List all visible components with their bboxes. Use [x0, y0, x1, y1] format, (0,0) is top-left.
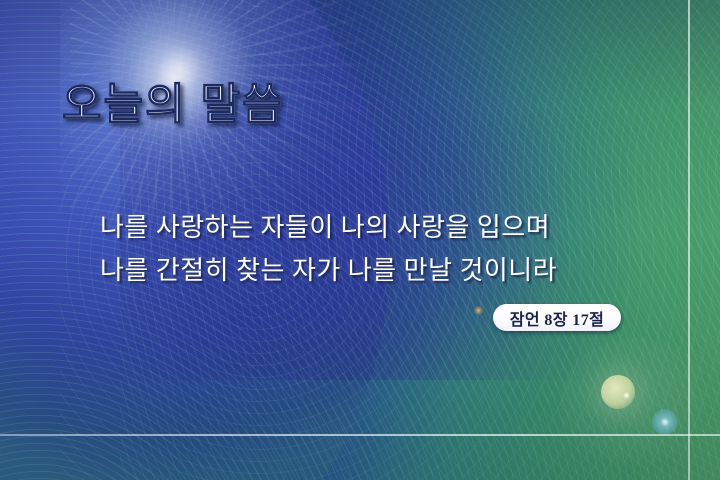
presentation-slide: 오늘의 말씀 나를 사랑하는 자들이 나의 사랑을 입으며 나를 간절히 찾는 … [0, 0, 720, 480]
slide-title: 오늘의 말씀 [62, 70, 284, 132]
slide-content: 오늘의 말씀 나를 사랑하는 자들이 나의 사랑을 입으며 나를 간절히 찾는 … [0, 0, 720, 480]
verse-line-1: 나를 사랑하는 자들이 나의 사랑을 입으며 [100, 206, 620, 249]
scripture-citation-badge: 잠언 8장 17절 [493, 304, 621, 331]
verse-line-2: 나를 간절히 찾는 자가 나를 만날 것이니라 [100, 249, 620, 292]
verse-body: 나를 사랑하는 자들이 나의 사랑을 입으며 나를 간절히 찾는 자가 나를 만… [100, 206, 620, 292]
